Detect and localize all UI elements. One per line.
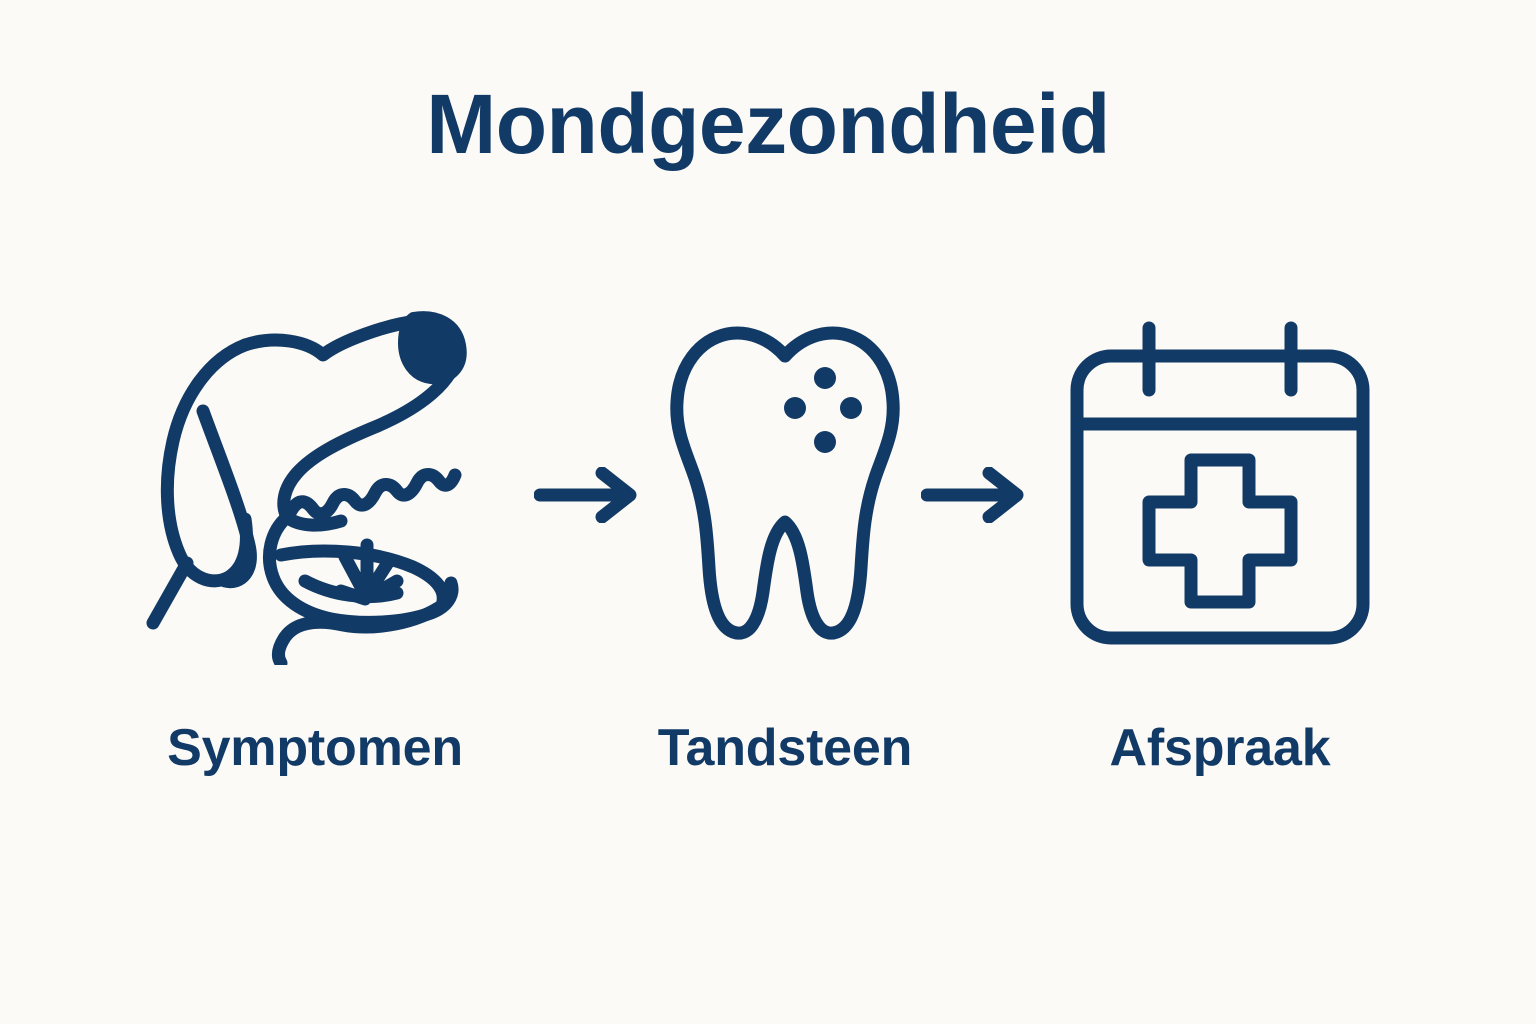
process-flow: Symptomen Tandsteen — [0, 300, 1536, 700]
step-afspraak[interactable]: Afspraak — [1040, 300, 1400, 700]
step-label-tandsteen: Tandsteen — [605, 718, 965, 778]
arrow-right-icon — [915, 460, 1035, 530]
dog-head-open-mouth-icon — [135, 300, 495, 670]
step-tandsteen[interactable]: Tandsteen — [605, 300, 965, 700]
calendar-medical-cross-icon — [1040, 300, 1400, 670]
page-title: Mondgezondheid — [0, 78, 1536, 170]
tooth-with-plaque-icon — [605, 300, 965, 670]
step-label-symptomen: Symptomen — [135, 718, 495, 778]
step-label-afspraak: Afspraak — [1040, 718, 1400, 778]
infographic-canvas: Mondgezondheid — [0, 0, 1536, 1024]
step-symptomen[interactable]: Symptomen — [135, 300, 495, 700]
